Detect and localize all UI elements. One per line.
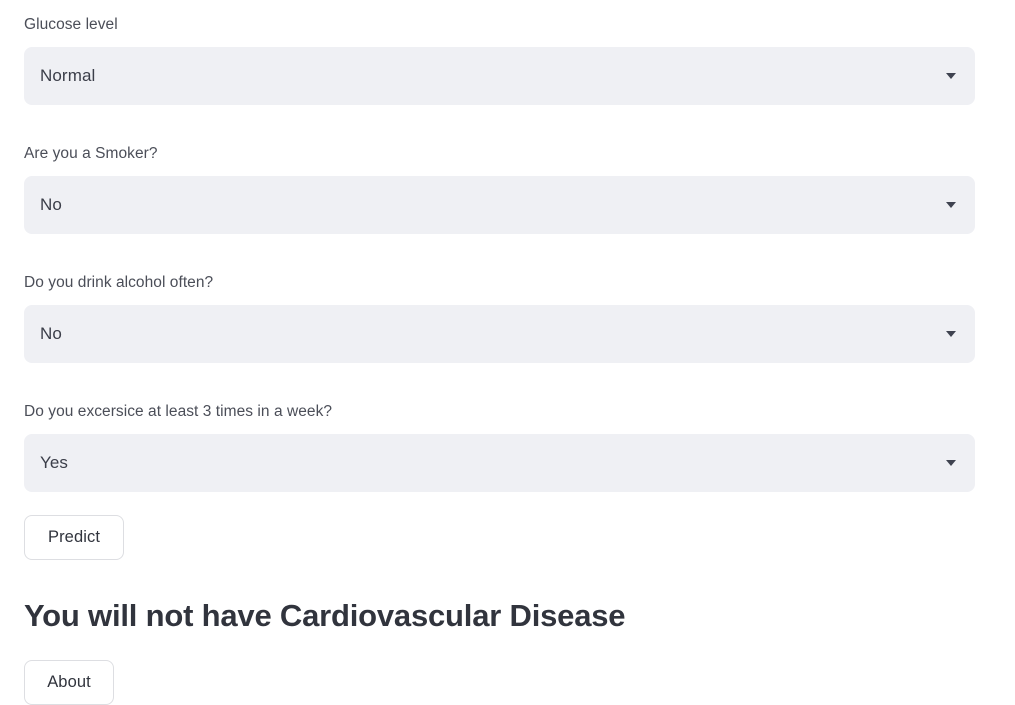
predict-button[interactable]: Predict: [24, 515, 124, 560]
field-glucose-level: Glucose level Normal: [24, 15, 991, 105]
select-value-alcohol: No: [40, 305, 62, 363]
select-value-exercise: Yes: [40, 434, 68, 492]
prediction-form-page: Glucose level Normal Are you a Smoker? N…: [0, 0, 1015, 703]
field-label-glucose-level: Glucose level: [24, 15, 991, 35]
field-alcohol: Do you drink alcohol often? No: [24, 273, 991, 363]
caret-down-icon[interactable]: [946, 331, 956, 337]
field-label-alcohol: Do you drink alcohol often?: [24, 273, 991, 293]
select-glucose-level[interactable]: Normal: [24, 47, 975, 105]
caret-down-icon[interactable]: [946, 202, 956, 208]
select-value-smoker: No: [40, 176, 62, 234]
field-label-smoker: Are you a Smoker?: [24, 144, 991, 164]
prediction-result-heading: You will not have Cardiovascular Disease: [24, 596, 991, 636]
field-exercise: Do you excersice at least 3 times in a w…: [24, 402, 991, 492]
about-button[interactable]: About: [24, 660, 114, 705]
select-value-glucose-level: Normal: [40, 47, 95, 105]
field-label-exercise: Do you excersice at least 3 times in a w…: [24, 402, 991, 422]
select-exercise[interactable]: Yes: [24, 434, 975, 492]
caret-down-icon[interactable]: [946, 73, 956, 79]
field-smoker: Are you a Smoker? No: [24, 144, 991, 234]
caret-down-icon[interactable]: [946, 460, 956, 466]
select-smoker[interactable]: No: [24, 176, 975, 234]
select-alcohol[interactable]: No: [24, 305, 975, 363]
